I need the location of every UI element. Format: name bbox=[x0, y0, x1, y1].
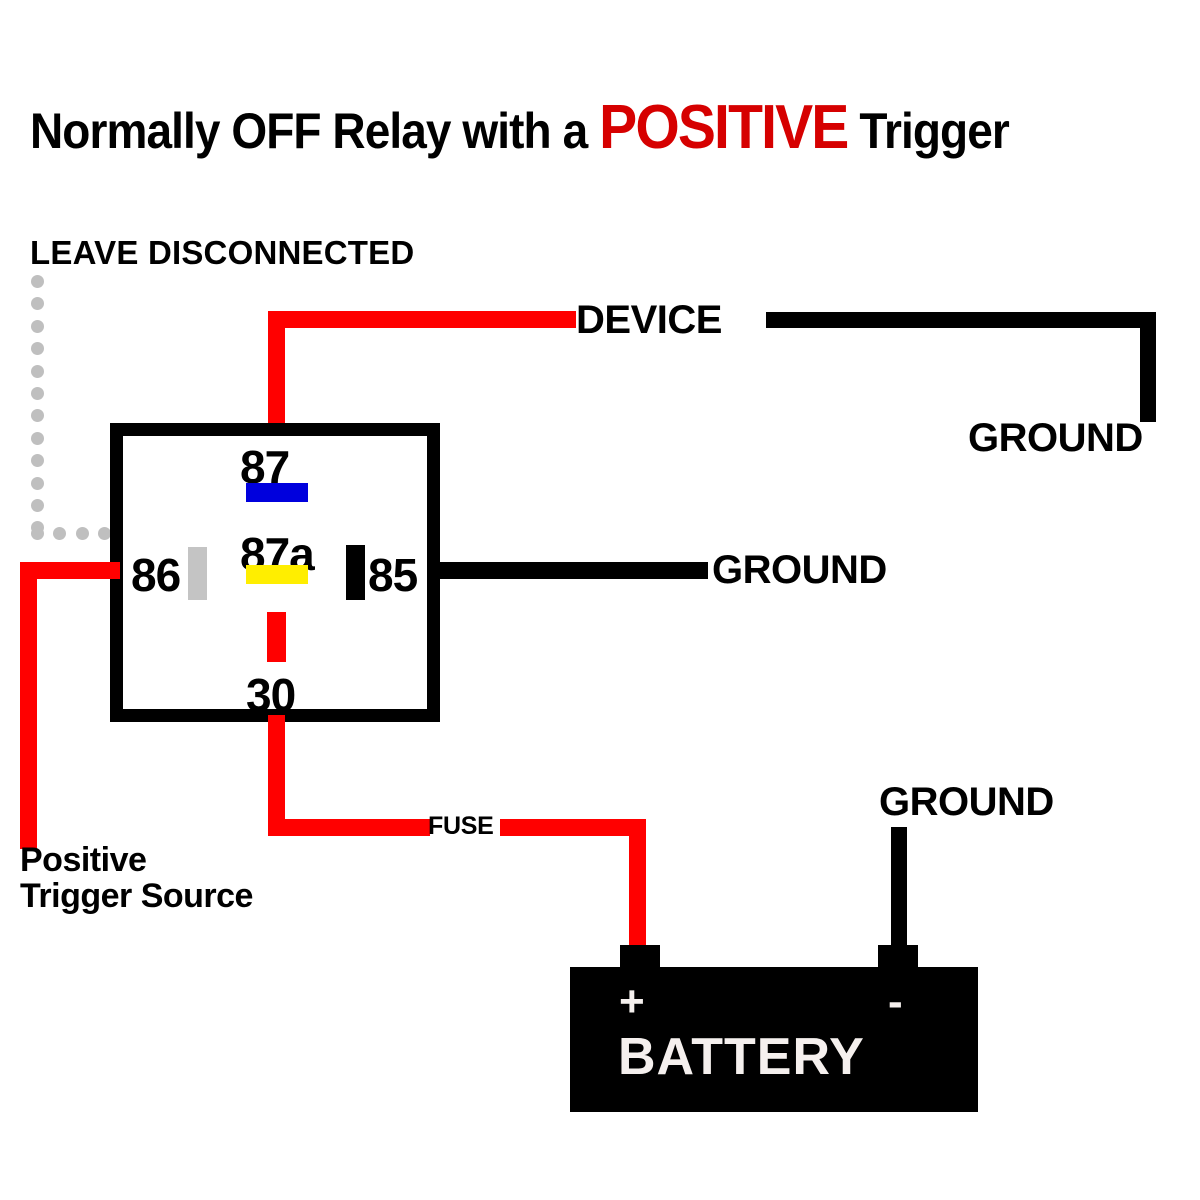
wire-30-to-fuse bbox=[268, 819, 430, 836]
wire-86-trigger-vertical bbox=[20, 562, 37, 849]
ground-battery-label: GROUND bbox=[879, 782, 1054, 822]
disconnected-dot bbox=[31, 432, 44, 445]
terminal-bar-87a bbox=[246, 565, 308, 584]
battery-positive-symbol: + bbox=[619, 980, 645, 1024]
ground-mid-right-label: GROUND bbox=[712, 550, 887, 590]
title-suffix: Trigger bbox=[847, 103, 1008, 159]
leave-disconnected-label: LEAVE DISCONNECTED bbox=[30, 236, 414, 269]
disconnected-dot bbox=[31, 365, 44, 378]
disconnected-dot bbox=[31, 320, 44, 333]
wire-fuse-to-battery-horizontal bbox=[500, 819, 646, 836]
disconnected-dot bbox=[31, 409, 44, 422]
disconnected-dot bbox=[31, 499, 44, 512]
terminal-label-30: 30 bbox=[246, 668, 295, 722]
disconnected-dot bbox=[31, 387, 44, 400]
wire-device-to-ground-horizontal bbox=[766, 312, 1156, 328]
fuse-label: FUSE bbox=[428, 814, 493, 839]
ground-top-right-label: GROUND bbox=[968, 418, 1143, 458]
title-prefix: Normally OFF Relay with a bbox=[30, 103, 599, 159]
terminal-bar-86 bbox=[188, 547, 207, 600]
page-title: Normally OFF Relay with a POSITIVE Trigg… bbox=[30, 92, 1102, 163]
disconnected-dot bbox=[76, 527, 89, 540]
terminal-bar-87 bbox=[246, 483, 308, 502]
disconnected-dot bbox=[31, 342, 44, 355]
disconnected-dot bbox=[31, 477, 44, 490]
wire-30-down bbox=[268, 715, 285, 836]
disconnected-dot bbox=[31, 454, 44, 467]
terminal-label-85: 85 bbox=[368, 548, 417, 602]
trigger-source-line2: Trigger Source bbox=[20, 879, 253, 915]
wire-87-to-device-horizontal bbox=[268, 311, 576, 328]
wire-85-to-ground bbox=[434, 562, 708, 579]
device-label: DEVICE bbox=[576, 300, 722, 340]
relay-wiring-diagram: Normally OFF Relay with a POSITIVE Trigg… bbox=[0, 0, 1200, 1200]
terminal-bar-85 bbox=[346, 545, 365, 600]
wire-device-to-ground-vertical bbox=[1140, 312, 1156, 422]
wire-87-to-device-vertical bbox=[268, 311, 285, 431]
disconnected-dot bbox=[31, 527, 44, 540]
battery-name-label: BATTERY bbox=[618, 1027, 865, 1087]
title-highlight: POSITIVE bbox=[599, 93, 847, 162]
disconnected-dot bbox=[53, 527, 66, 540]
battery-negative-symbol: - bbox=[888, 980, 903, 1024]
disconnected-dot bbox=[31, 297, 44, 310]
disconnected-dot bbox=[31, 275, 44, 288]
terminal-label-86: 86 bbox=[131, 548, 180, 602]
terminal-bar-30 bbox=[267, 612, 286, 662]
trigger-source-line1: Positive bbox=[20, 843, 253, 879]
